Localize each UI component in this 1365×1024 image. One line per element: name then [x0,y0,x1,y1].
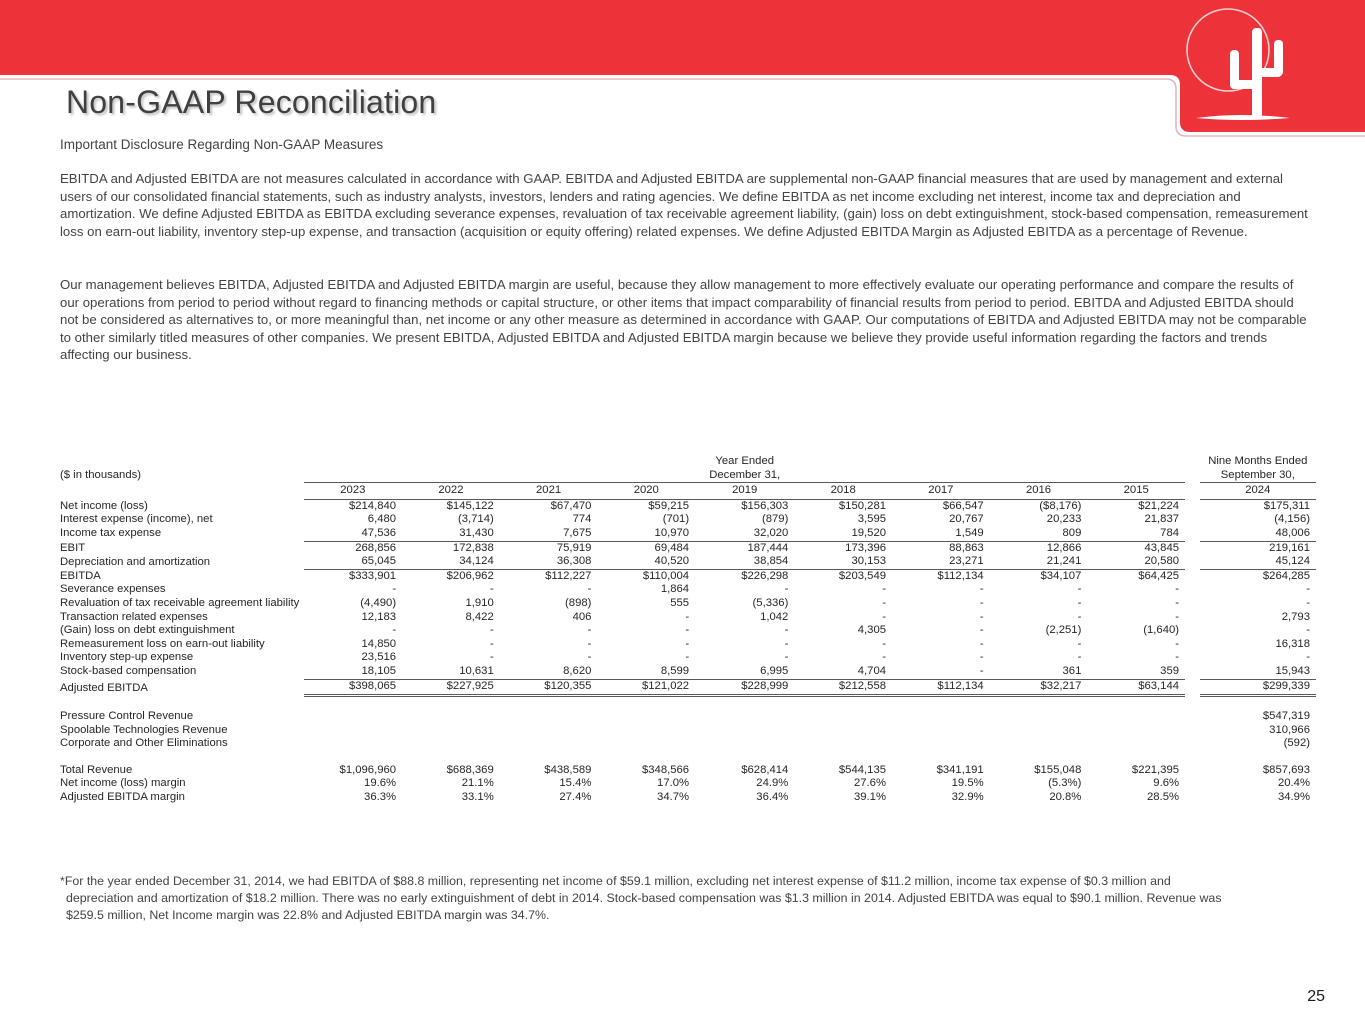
cell-2016: - [990,583,1088,597]
cell-2015 [1087,710,1185,724]
table-row: EBITDA$333,901$206,962$112,227$110,004$2… [58,569,1316,583]
row-label: Stock-based compensation [58,665,304,679]
cell-2023: $398,065 [304,679,403,696]
cell-2019: $156,303 [695,499,794,513]
table-row: Severance expenses---1,864------ [58,583,1316,597]
cell-2023: 6,480 [304,513,403,527]
column-header-2015: 2015 [1087,483,1185,500]
page-title: Non-GAAP Reconciliation [66,84,436,121]
cell-2024: (4,156) [1200,513,1316,527]
cell-2022: - [402,624,500,638]
row-label: Interest expense (income), net [58,513,304,527]
cell-2018: 4,704 [794,665,892,679]
cell-2019: $628,414 [695,764,794,778]
sun-circle-icon [1187,9,1269,91]
cell-2020: - [597,611,695,625]
cell-2022: 8,422 [402,611,500,625]
units-label: ($ in thousands) [58,455,304,483]
cell-2018 [794,737,892,751]
table-row: Interest expense (income), net6,480(3,71… [58,513,1316,527]
column-gap [1185,665,1200,679]
cell-2016: 20,233 [990,513,1088,527]
cell-2024: $547,319 [1200,710,1316,724]
column-gap [1185,541,1200,555]
cell-2019 [695,710,794,724]
cell-2024: - [1200,583,1316,597]
column-gap [1185,764,1200,778]
cell-2023: 12,183 [304,611,403,625]
table-row: Revaluation of tax receivable agreement … [58,597,1316,611]
cell-2017: 1,549 [892,527,990,541]
table-row: Corporate and Other Eliminations(592) [58,737,1316,751]
cell-2022: 34,124 [402,555,500,569]
cell-2020: 34.7% [597,791,695,805]
cell-2017: - [892,611,990,625]
cell-2017: - [892,583,990,597]
disclosure-paragraph-2: Our management believes EBITDA, Adjusted… [60,276,1310,364]
cell-2020: $348,566 [597,764,695,778]
cell-2022: - [402,638,500,652]
table-row: Net income (loss) margin19.6%21.1%15.4%1… [58,777,1316,791]
cell-2019: 38,854 [695,555,794,569]
footnote-line-1: *For the year ended December 31, 2014, w… [60,874,1171,888]
cell-2019: - [695,624,794,638]
cell-2015: - [1087,583,1185,597]
row-label: (Gain) loss on debt extinguishment [58,624,304,638]
column-gap [1185,513,1200,527]
page-subtitle: Important Disclosure Regarding Non-GAAP … [60,137,383,152]
table-row: Remeasurement loss on earn-out liability… [58,638,1316,652]
cell-2019: 36.4% [695,791,794,805]
table-row: EBIT268,856172,83875,91969,484187,444173… [58,541,1316,555]
cell-2022: (3,714) [402,513,500,527]
cell-2024: $175,311 [1200,499,1316,513]
column-gap [1185,638,1200,652]
cell-2024: $264,285 [1200,569,1316,583]
cell-2019: 187,444 [695,541,794,555]
cell-2016: $155,048 [990,764,1088,778]
cell-2021: 36,308 [500,555,598,569]
cell-2022: $688,369 [402,764,500,778]
cell-2023: 14,850 [304,638,403,652]
row-label: EBITDA [58,569,304,583]
group-header-nine-months: Nine Months EndedSeptember 30, [1200,455,1316,483]
cell-2023: 19.6% [304,777,403,791]
cell-2021: $120,355 [500,679,598,696]
cell-2020: - [597,651,695,665]
cell-2018 [794,724,892,738]
column-gap [1185,651,1200,665]
cell-2015: 9.6% [1087,777,1185,791]
cell-2016: 12,866 [990,541,1088,555]
cell-2017: $341,191 [892,764,990,778]
cell-2018: - [794,583,892,597]
cell-2022: $145,122 [402,499,500,513]
column-gap [1185,624,1200,638]
cell-2024: - [1200,597,1316,611]
cell-2017: - [892,597,990,611]
row-label: Net income (loss) [58,499,304,513]
cell-2015: 359 [1087,665,1185,679]
cell-2020: - [597,624,695,638]
column-header-2016: 2016 [990,483,1088,500]
cell-2019: $226,298 [695,569,794,583]
cell-2023: - [304,583,403,597]
footnote: *For the year ended December 31, 2014, w… [60,873,1310,924]
cell-2022 [402,737,500,751]
column-gap [1185,555,1200,569]
cell-2020 [597,724,695,738]
cell-2019: - [695,638,794,652]
table-row: Total Revenue$1,096,960$688,369$438,589$… [58,764,1316,778]
table-year-header-row: 2023202220212020201920182017201620152024 [58,483,1316,500]
cell-2021: - [500,638,598,652]
cell-2022: 10,631 [402,665,500,679]
cell-2020: $121,022 [597,679,695,696]
cell-2017: - [892,624,990,638]
cell-2020: 555 [597,597,695,611]
row-label: Depreciation and amortization [58,555,304,569]
cell-2015: - [1087,651,1185,665]
cell-2017 [892,724,990,738]
cell-2017: $66,547 [892,499,990,513]
cell-2015: 28.5% [1087,791,1185,805]
row-label: Severance expenses [58,583,304,597]
row-label: Pressure Control Revenue [58,710,304,724]
cell-2024: 15,943 [1200,665,1316,679]
year-row-spacer [58,483,304,500]
group-header-year-ended: Year EndedDecember 31, [695,455,794,483]
cell-2016: - [990,597,1088,611]
cell-2023: (4,490) [304,597,403,611]
cell-2023: $333,901 [304,569,403,583]
column-header-2022: 2022 [402,483,500,500]
cell-2018: 173,396 [794,541,892,555]
column-gap [1185,527,1200,541]
cell-2021: 774 [500,513,598,527]
cell-2022: $227,925 [402,679,500,696]
cactus-icon [1196,28,1290,120]
cell-2016 [990,724,1088,738]
cell-2020 [597,737,695,751]
cell-2019 [695,737,794,751]
row-label: EBIT [58,541,304,555]
cell-2019: 32,020 [695,527,794,541]
cell-2022: $206,962 [402,569,500,583]
row-label: Net income (loss) margin [58,777,304,791]
column-gap [1185,679,1200,696]
table-spacer-row [58,751,1316,764]
cell-2019 [695,724,794,738]
cell-2021: 406 [500,611,598,625]
cell-2022: 31,430 [402,527,500,541]
table-row: Pressure Control Revenue$547,319 [58,710,1316,724]
page-number: 25 [1307,988,1325,1006]
column-header-2020: 2020 [597,483,695,500]
cell-2024: $857,693 [1200,764,1316,778]
cell-2019: 24.9% [695,777,794,791]
cell-2024: 310,966 [1200,724,1316,738]
column-gap [1185,483,1200,500]
cell-2023: 65,045 [304,555,403,569]
cell-2016 [990,710,1088,724]
cell-2015: 43,845 [1087,541,1185,555]
non-gaap-reconciliation-table: ($ in thousands) Year EndedDecember 31, … [58,455,1316,805]
footnote-line-2: depreciation and amortization of $18.2 m… [60,890,1310,907]
cell-2024: 219,161 [1200,541,1316,555]
cell-2022: - [402,651,500,665]
cell-2016: 809 [990,527,1088,541]
cell-2020: 17.0% [597,777,695,791]
row-label: Spoolable Technologies Revenue [58,724,304,738]
table-row: (Gain) loss on debt extinguishment-----4… [58,624,1316,638]
cell-2020: 8,599 [597,665,695,679]
cell-2018: $150,281 [794,499,892,513]
cell-2019: (5,336) [695,597,794,611]
cell-2016: 361 [990,665,1088,679]
cell-2024: (592) [1200,737,1316,751]
cell-2018: 19,520 [794,527,892,541]
column-gap [1185,611,1200,625]
column-header-2019: 2019 [695,483,794,500]
cell-2016 [990,737,1088,751]
cell-2018: $544,135 [794,764,892,778]
cell-2018: 3,595 [794,513,892,527]
row-label: Total Revenue [58,764,304,778]
cell-2018: 30,153 [794,555,892,569]
cell-2022: 172,838 [402,541,500,555]
cell-2020: $59,215 [597,499,695,513]
cell-2021: 7,675 [500,527,598,541]
cell-2015: - [1087,638,1185,652]
cell-2018: - [794,638,892,652]
cell-2017 [892,737,990,751]
table-row: Inventory step-up expense23,516--------- [58,651,1316,665]
cell-2019: 6,995 [695,665,794,679]
cell-2021 [500,724,598,738]
cell-2016: (2,251) [990,624,1088,638]
column-gap [1185,499,1200,513]
column-gap [1185,724,1200,738]
cell-2018: $203,549 [794,569,892,583]
row-label: Income tax expense [58,527,304,541]
column-gap [1185,737,1200,751]
cell-2021: 27.4% [500,791,598,805]
cell-2022: 33.1% [402,791,500,805]
cell-2019: $228,999 [695,679,794,696]
cell-2015: 20,580 [1087,555,1185,569]
cell-2019: - [695,583,794,597]
cell-2018: 39.1% [794,791,892,805]
cell-2015 [1087,724,1185,738]
cell-2017: $112,134 [892,569,990,583]
cell-2015: $63,144 [1087,679,1185,696]
cell-2015: - [1087,611,1185,625]
cell-2017: 23,271 [892,555,990,569]
column-header-2024: 2024 [1200,483,1316,500]
cell-2023: $1,096,960 [304,764,403,778]
column-gap [1185,791,1200,805]
cell-2019: - [695,651,794,665]
cell-2021: 75,919 [500,541,598,555]
cell-2018 [794,710,892,724]
table-group-header-row: ($ in thousands) Year EndedDecember 31, … [58,455,1316,483]
cell-2015: $221,395 [1087,764,1185,778]
cell-2020: (701) [597,513,695,527]
row-label: Adjusted EBITDA margin [58,791,304,805]
cell-2015: 21,837 [1087,513,1185,527]
cell-2024: 2,793 [1200,611,1316,625]
cell-2024: $299,339 [1200,679,1316,696]
cell-2017: $112,134 [892,679,990,696]
cell-2019: (879) [695,513,794,527]
cell-2022: 1,910 [402,597,500,611]
cell-2021: - [500,651,598,665]
table-row: Adjusted EBITDA margin36.3%33.1%27.4%34.… [58,791,1316,805]
cell-2020 [597,710,695,724]
cell-2016: - [990,611,1088,625]
cell-2024: 45,124 [1200,555,1316,569]
cell-2021 [500,710,598,724]
cell-2017: - [892,665,990,679]
cell-2023: 18,105 [304,665,403,679]
row-label: Revaluation of tax receivable agreement … [58,597,304,611]
cell-2023: 47,536 [304,527,403,541]
footnote-line-3: $259.5 million, Net Income margin was 22… [60,907,1310,924]
spacer-cell [58,751,1316,764]
cell-2018: 27.6% [794,777,892,791]
cell-2016: (5.3%) [990,777,1088,791]
column-gap [1185,569,1200,583]
cell-2018: - [794,611,892,625]
cell-2022 [402,724,500,738]
cell-2015: $21,224 [1087,499,1185,513]
cell-2015: 784 [1087,527,1185,541]
table-row: Net income (loss)$214,840$145,122$67,470… [58,499,1316,513]
cell-2015: (1,640) [1087,624,1185,638]
cell-2017 [892,710,990,724]
cell-2020: $110,004 [597,569,695,583]
column-header-2018: 2018 [794,483,892,500]
cell-2016: ($8,176) [990,499,1088,513]
column-gap [1185,710,1200,724]
cell-2023: $214,840 [304,499,403,513]
cell-2022: 21.1% [402,777,500,791]
column-gap [1185,597,1200,611]
cell-2019: 1,042 [695,611,794,625]
cell-2017: 19.5% [892,777,990,791]
cell-2021 [500,737,598,751]
row-label: Adjusted EBITDA [58,679,304,696]
disclosure-paragraph-1: EBITDA and Adjusted EBITDA are not measu… [60,170,1310,240]
cell-2023 [304,724,403,738]
cell-2017: 88,863 [892,541,990,555]
cell-2020: 10,970 [597,527,695,541]
cell-2015: $64,425 [1087,569,1185,583]
table-row: Income tax expense47,53631,4307,67510,97… [58,527,1316,541]
cell-2021: - [500,624,598,638]
cell-2021: $67,470 [500,499,598,513]
cell-2017: - [892,638,990,652]
cell-2016: $34,107 [990,569,1088,583]
row-label: Remeasurement loss on earn-out liability [58,638,304,652]
cell-2016: $32,217 [990,679,1088,696]
table-row: Spoolable Technologies Revenue310,966 [58,724,1316,738]
cell-2024: - [1200,624,1316,638]
cell-2016: 21,241 [990,555,1088,569]
cell-2023: - [304,624,403,638]
cell-2024: 48,006 [1200,527,1316,541]
cell-2020: 40,520 [597,555,695,569]
cactus-sun-logo [1187,9,1290,120]
cell-2018: - [794,651,892,665]
row-label: Transaction related expenses [58,611,304,625]
table-row: Transaction related expenses12,1838,4224… [58,611,1316,625]
cell-2023 [304,710,403,724]
cell-2023: 23,516 [304,651,403,665]
column-header-2023: 2023 [304,483,403,500]
cell-2024: 16,318 [1200,638,1316,652]
cell-2021: $438,589 [500,764,598,778]
cell-2024: 20.4% [1200,777,1316,791]
row-label: Inventory step-up expense [58,651,304,665]
cell-2017: 32.9% [892,791,990,805]
cell-2024: 34.9% [1200,791,1316,805]
cell-2016: 20.8% [990,791,1088,805]
cell-2023: 268,856 [304,541,403,555]
column-header-2021: 2021 [500,483,598,500]
cell-2021: (898) [500,597,598,611]
cell-2016: - [990,638,1088,652]
cell-2018: $212,558 [794,679,892,696]
cell-2015: - [1087,597,1185,611]
table-row: Adjusted EBITDA$398,065$227,925$120,355$… [58,679,1316,696]
cell-2021: 15.4% [500,777,598,791]
cell-2017: - [892,651,990,665]
spacer-cell [58,696,1316,711]
cell-2022: - [402,583,500,597]
cell-2023: 36.3% [304,791,403,805]
cell-2021: 8,620 [500,665,598,679]
cell-2020: - [597,638,695,652]
cell-2021: $112,227 [500,569,598,583]
row-label: Corporate and Other Eliminations [58,737,304,751]
table-row: Stock-based compensation18,10510,6318,62… [58,665,1316,679]
table-spacer-row [58,696,1316,711]
cell-2021: - [500,583,598,597]
table-row: Depreciation and amortization65,04534,12… [58,555,1316,569]
cell-2023 [304,737,403,751]
column-header-2017: 2017 [892,483,990,500]
cell-2018: 4,305 [794,624,892,638]
column-gap [1185,777,1200,791]
cell-2022 [402,710,500,724]
cell-2015 [1087,737,1185,751]
cell-2016: - [990,651,1088,665]
column-gap [1185,583,1200,597]
cell-2020: 69,484 [597,541,695,555]
cell-2020: 1,864 [597,583,695,597]
cell-2017: 20,767 [892,513,990,527]
cell-2018: - [794,597,892,611]
cell-2024: - [1200,651,1316,665]
